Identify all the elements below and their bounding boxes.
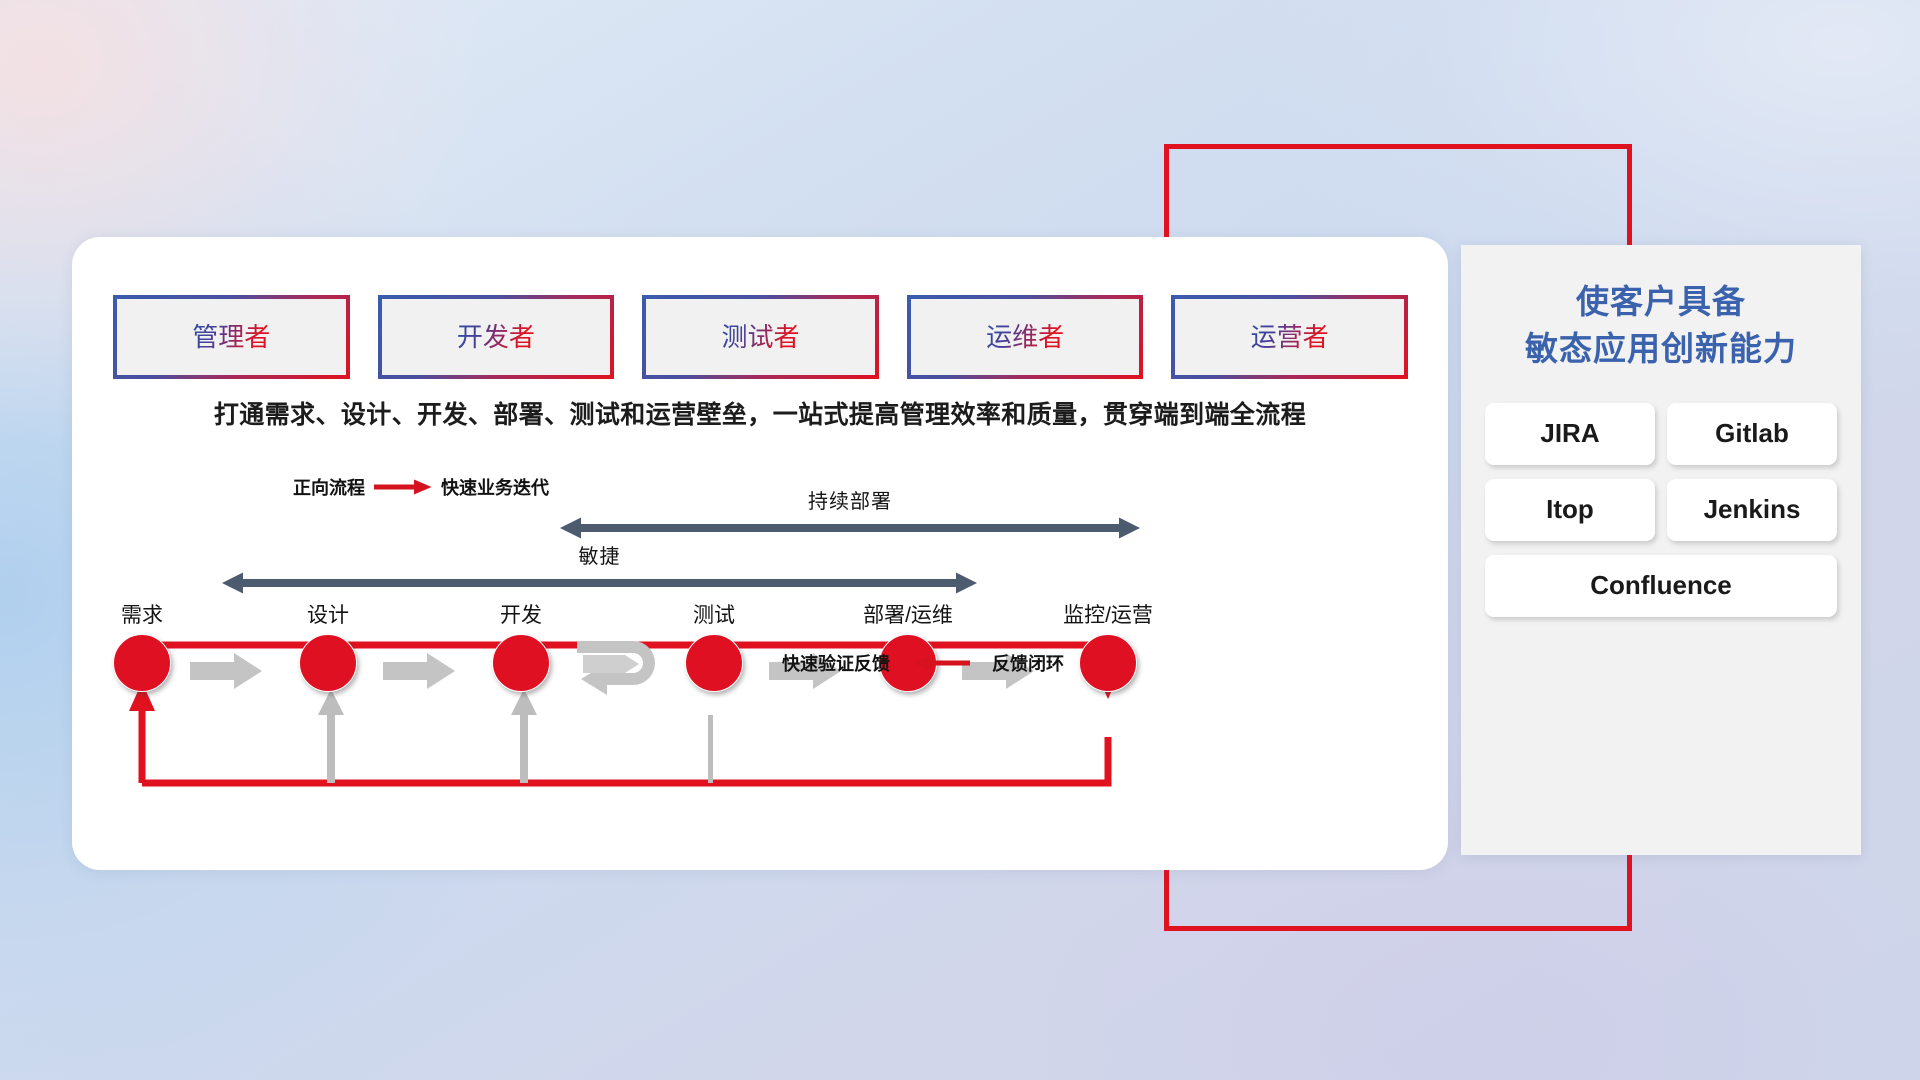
tool-chip-jira[interactable]: JIRA (1485, 403, 1655, 465)
stage-label: 监控/运营 (1048, 605, 1168, 626)
stage-design[interactable]: 设计 (268, 605, 388, 692)
arrow-right-icon (374, 479, 432, 495)
stage-dot (492, 634, 550, 692)
role-box-tester[interactable]: 测试者 (642, 295, 879, 379)
role-label: 开发者 (457, 324, 535, 350)
role-box-manager[interactable]: 管理者 (113, 295, 350, 379)
loop-back-arrow-icon (573, 633, 665, 715)
pipeline: 需求 设计 开发 测试 部署/运维 监控/运营 (72, 587, 1448, 817)
role-label: 运营者 (1251, 324, 1329, 350)
tool-chip-gitlab[interactable]: Gitlab (1667, 403, 1837, 465)
arrow-left-icon (912, 655, 970, 671)
role-box-developer[interactable]: 开发者 (378, 295, 615, 379)
tool-chip-jenkins[interactable]: Jenkins (1667, 479, 1837, 541)
legend-forward-flow: 正向流程 快速业务迭代 (293, 474, 549, 500)
stage-requirement[interactable]: 需求 (82, 605, 202, 692)
span-label: 敏捷 (222, 540, 977, 569)
stage-label: 设计 (268, 605, 388, 626)
flow-arrow-icon (383, 653, 455, 689)
stage-label: 部署/运维 (848, 605, 968, 626)
stage-dot (1079, 634, 1137, 692)
stage-label: 开发 (461, 605, 581, 626)
stage-label: 测试 (654, 605, 774, 626)
legend-feedback-left-label: 快速验证反馈 (782, 650, 890, 676)
legend-feedback-right-label: 反馈闭环 (992, 650, 1064, 676)
stage-dot (113, 634, 171, 692)
role-label: 运维者 (986, 324, 1064, 350)
panel-title-line2: 敏态应用创新能力 (1485, 326, 1837, 373)
panel-title-line1: 使客户具备 (1485, 279, 1837, 326)
tool-chip-list: JIRA Gitlab Itop Jenkins Confluence (1485, 403, 1837, 617)
role-box-ops[interactable]: 运维者 (907, 295, 1144, 379)
span-continuous-deployment: 持续部署 (560, 485, 1140, 544)
stage-monitor-operations[interactable]: 监控/运营 (1048, 605, 1168, 692)
stage-development[interactable]: 开发 (461, 605, 581, 692)
double-arrow-icon (560, 517, 1140, 539)
stage-label: 需求 (82, 605, 202, 626)
legend-forward-right-label: 快速业务迭代 (441, 474, 549, 500)
role-label: 测试者 (721, 324, 799, 350)
main-diagram-card: 管理者 开发者 测试者 运维者 运营者 打通需求、设计、开发、部署、测试和运营壁… (72, 237, 1448, 870)
stage-testing[interactable]: 测试 (654, 605, 774, 692)
role-label: 管理者 (192, 324, 270, 350)
role-box-row: 管理者 开发者 测试者 运维者 运营者 (113, 295, 1408, 379)
legend-feedback-loop: 快速验证反馈 反馈闭环 (782, 650, 1064, 676)
value-proposition-panel: 使客户具备 敏态应用创新能力 JIRA Gitlab Itop Jenkins … (1461, 245, 1861, 855)
stage-dot (685, 634, 743, 692)
legend-forward-left-label: 正向流程 (293, 474, 365, 500)
role-box-operations[interactable]: 运营者 (1171, 295, 1408, 379)
panel-title: 使客户具备 敏态应用创新能力 (1485, 279, 1837, 373)
stage-dot (299, 634, 357, 692)
stage-deploy-ops[interactable]: 部署/运维 (848, 605, 968, 692)
tool-chip-itop[interactable]: Itop (1485, 479, 1655, 541)
card-description: 打通需求、设计、开发、部署、测试和运营壁垒，一站式提高管理效率和质量，贯穿端到端… (72, 395, 1448, 431)
tool-chip-confluence[interactable]: Confluence (1485, 555, 1837, 617)
span-label: 持续部署 (560, 485, 1140, 514)
